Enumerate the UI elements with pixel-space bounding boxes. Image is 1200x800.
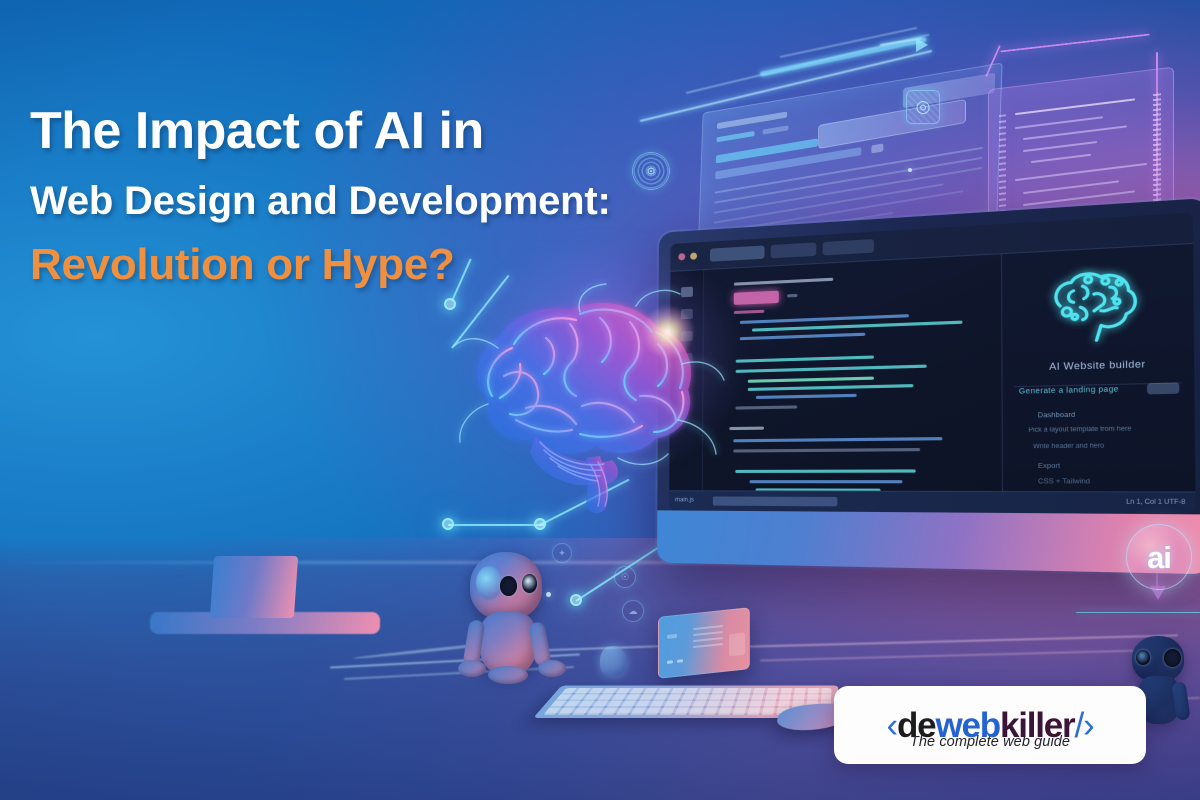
holographic-brain bbox=[430, 278, 730, 528]
mini-pc-tower bbox=[658, 607, 750, 679]
brain-circuit-icon: ◎ bbox=[906, 90, 940, 124]
monitor-stand bbox=[210, 556, 298, 618]
hud-arrowhead-icon bbox=[916, 38, 928, 52]
robot-visor bbox=[476, 566, 502, 600]
ai-option-row[interactable]: Dashboard bbox=[1038, 411, 1076, 419]
robot-eye bbox=[522, 574, 537, 593]
headline-line-3: Revolution or Hype? bbox=[30, 241, 710, 289]
headline-block: The Impact of AI in Web Design and Devel… bbox=[30, 104, 710, 290]
ai-panel-action-button[interactable] bbox=[1147, 382, 1179, 394]
robot-foreground bbox=[452, 552, 572, 692]
ai-circle-badge: ai bbox=[1126, 524, 1192, 590]
headline-line-2: Web Design and Development: bbox=[30, 179, 710, 223]
hero-banner: ⚙ ◎ ☉ ☁ ✦ bbox=[0, 0, 1200, 800]
ai-option-row[interactable]: Pick a layout template from here bbox=[1028, 426, 1131, 434]
ai-option-row[interactable]: Write header and hero bbox=[1033, 443, 1104, 450]
robot-eye bbox=[1164, 649, 1181, 667]
status-right: Ln 1, Col 1 UTF-8 bbox=[1126, 499, 1185, 506]
glass-ornament bbox=[600, 646, 626, 676]
robot-hand bbox=[538, 660, 566, 677]
robot-leg bbox=[488, 666, 528, 684]
ai-panel-subtitle: Generate a landing page bbox=[1019, 386, 1119, 396]
robot-body bbox=[480, 612, 536, 674]
ai-option-row[interactable]: Export bbox=[1038, 462, 1060, 470]
brand-logo-inner: ‹dewebkiller/› The complete web guide bbox=[834, 708, 1146, 743]
robot-eye bbox=[1136, 650, 1150, 665]
ai-option-row[interactable]: CSS + Tailwind bbox=[1038, 478, 1090, 486]
ai-assistant-panel: AI Website builder Generate a landing pa… bbox=[1001, 244, 1195, 492]
ide-tab[interactable] bbox=[771, 242, 817, 258]
brand-logo-tagline: The complete web guide bbox=[834, 734, 1146, 750]
brain-light-flare bbox=[642, 306, 694, 358]
headline-line-1: The Impact of AI in bbox=[30, 104, 710, 159]
node-connector-icon: ☁ bbox=[622, 600, 644, 622]
ai-badge-label: ai bbox=[1147, 542, 1171, 573]
hud-neon-outline bbox=[1076, 612, 1200, 613]
robot-hand bbox=[458, 660, 486, 677]
ide-tab[interactable] bbox=[823, 239, 874, 255]
ai-panel-title: AI Website builder bbox=[1021, 358, 1175, 373]
brain-icon bbox=[1037, 262, 1153, 351]
data-flow-icon: ☉ bbox=[614, 566, 636, 588]
brand-logo-card[interactable]: ‹dewebkiller/› The complete web guide bbox=[834, 686, 1146, 764]
robot-eye bbox=[500, 576, 517, 596]
